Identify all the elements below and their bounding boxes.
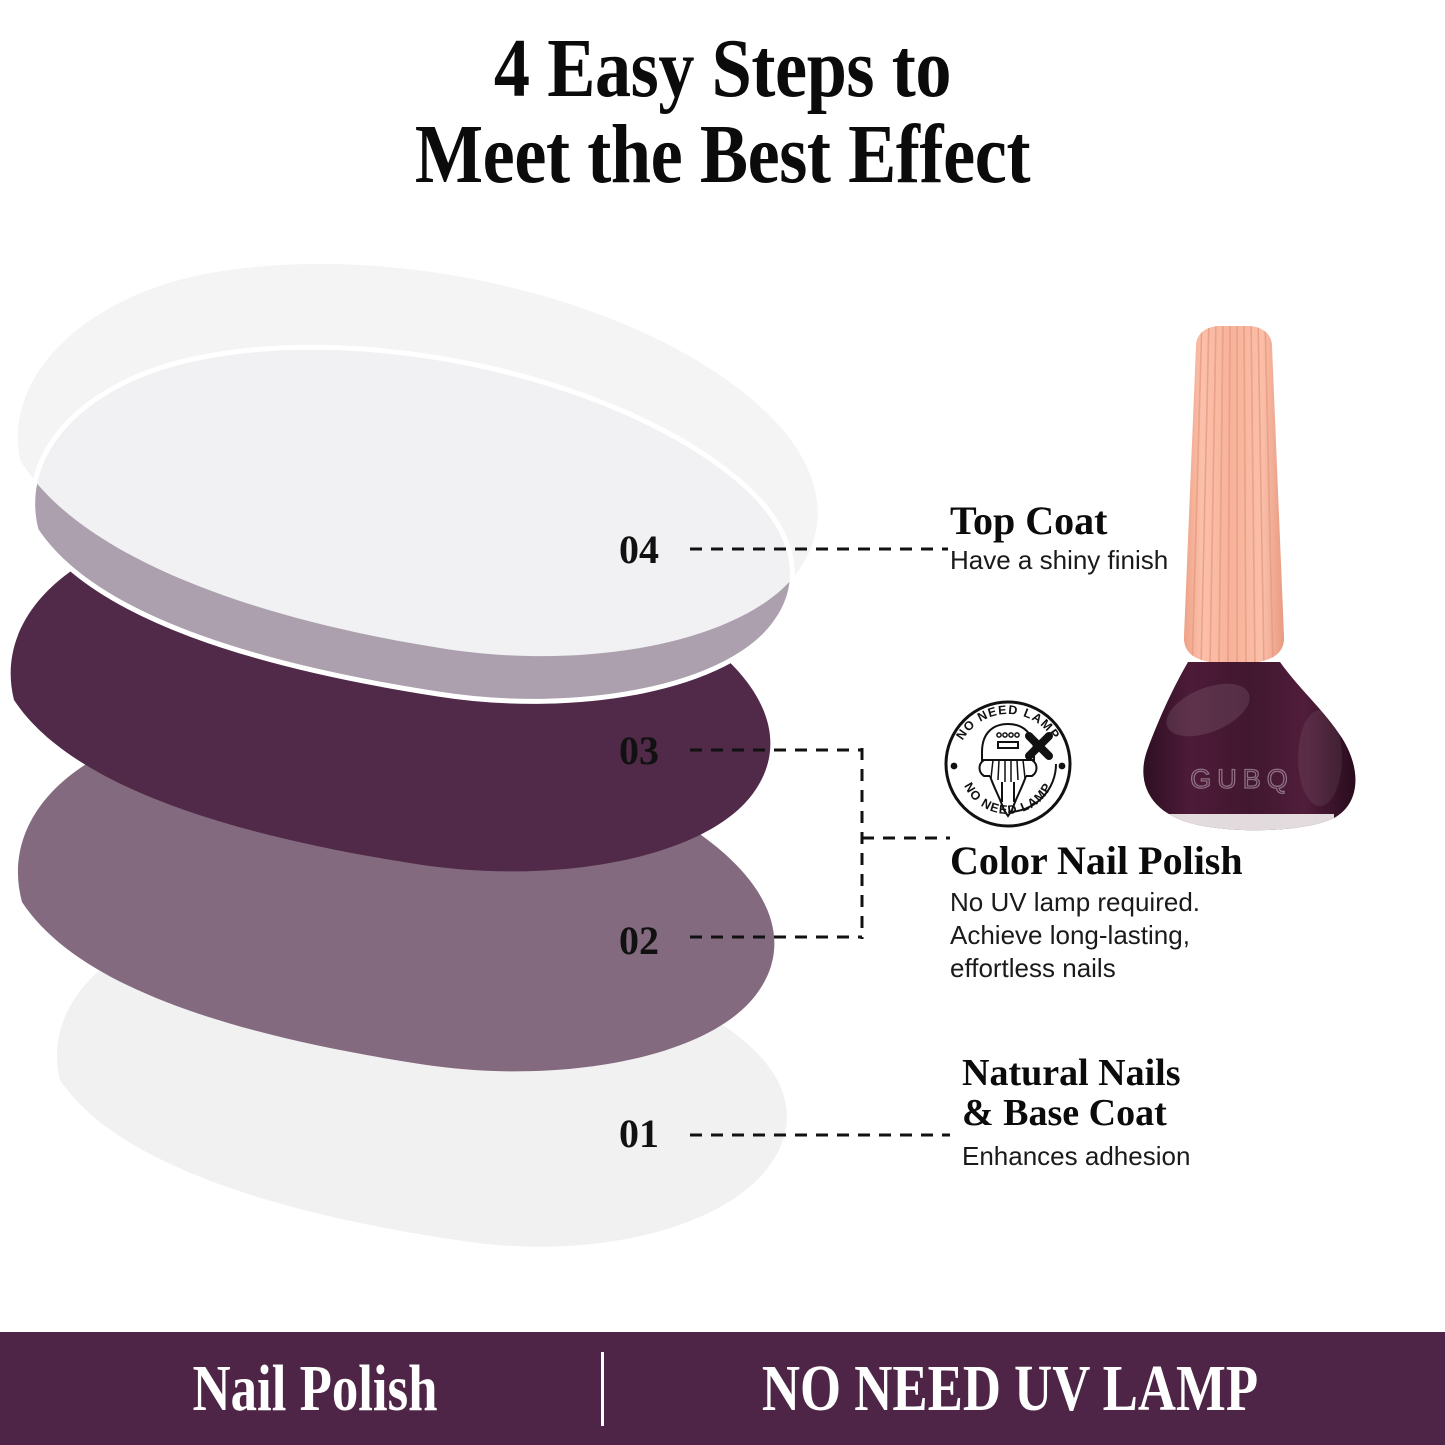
banner-left-text: Nail Polish bbox=[91, 1356, 539, 1422]
callout-color-polish-line-2: Achieve long-lasting, bbox=[950, 919, 1243, 952]
bottom-banner: Nail Polish NO NEED UV LAMP bbox=[0, 1332, 1445, 1445]
banner-divider bbox=[601, 1352, 604, 1426]
no-need-lamp-stamp: NO NEED LAMP NO NEED LAMP bbox=[938, 690, 1078, 836]
step-number-01: 01 bbox=[619, 1110, 659, 1157]
callout-color-polish-line-1: No UV lamp required. bbox=[950, 886, 1243, 919]
stamp-dot-left bbox=[951, 763, 958, 770]
callout-color-polish-description: No UV lamp required. Achieve long-lastin… bbox=[950, 886, 1243, 984]
callout-base-coat: Natural Nails & Base Coat Enhances adhes… bbox=[962, 1053, 1190, 1172]
infographic-canvas: 4 Easy Steps to Meet the Best Effect bbox=[0, 0, 1445, 1445]
step-number-03: 03 bbox=[619, 727, 659, 774]
bottle-body: GUBQ bbox=[1143, 662, 1355, 844]
callout-color-polish-line-3: effortless nails bbox=[950, 952, 1243, 985]
banner-right-text: NO NEED UV LAMP bbox=[690, 1356, 1330, 1422]
callout-color-polish: Color Nail Polish No UV lamp required. A… bbox=[950, 840, 1243, 985]
step-number-02: 02 bbox=[619, 917, 659, 964]
callout-base-coat-heading-line-1: Natural Nails bbox=[962, 1053, 1190, 1093]
bottle-cap bbox=[1184, 318, 1284, 668]
callout-base-coat-heading-line-2: & Base Coat bbox=[962, 1093, 1190, 1133]
title-line-1: 4 Easy Steps to bbox=[494, 22, 951, 115]
bottle-base-shine bbox=[1164, 814, 1334, 844]
stamp-dot-right bbox=[1059, 763, 1066, 770]
step-number-04: 04 bbox=[619, 526, 659, 573]
callout-base-coat-description: Enhances adhesion bbox=[962, 1140, 1190, 1173]
nail-polish-bottle: GUBQ bbox=[1124, 318, 1414, 848]
title-line-2: Meet the Best Effect bbox=[101, 112, 1344, 198]
nail-layer-stack bbox=[0, 230, 880, 1290]
bottle-brand-emboss: GUBQ bbox=[1190, 764, 1294, 794]
page-title: 4 Easy Steps to Meet the Best Effect bbox=[101, 26, 1344, 197]
